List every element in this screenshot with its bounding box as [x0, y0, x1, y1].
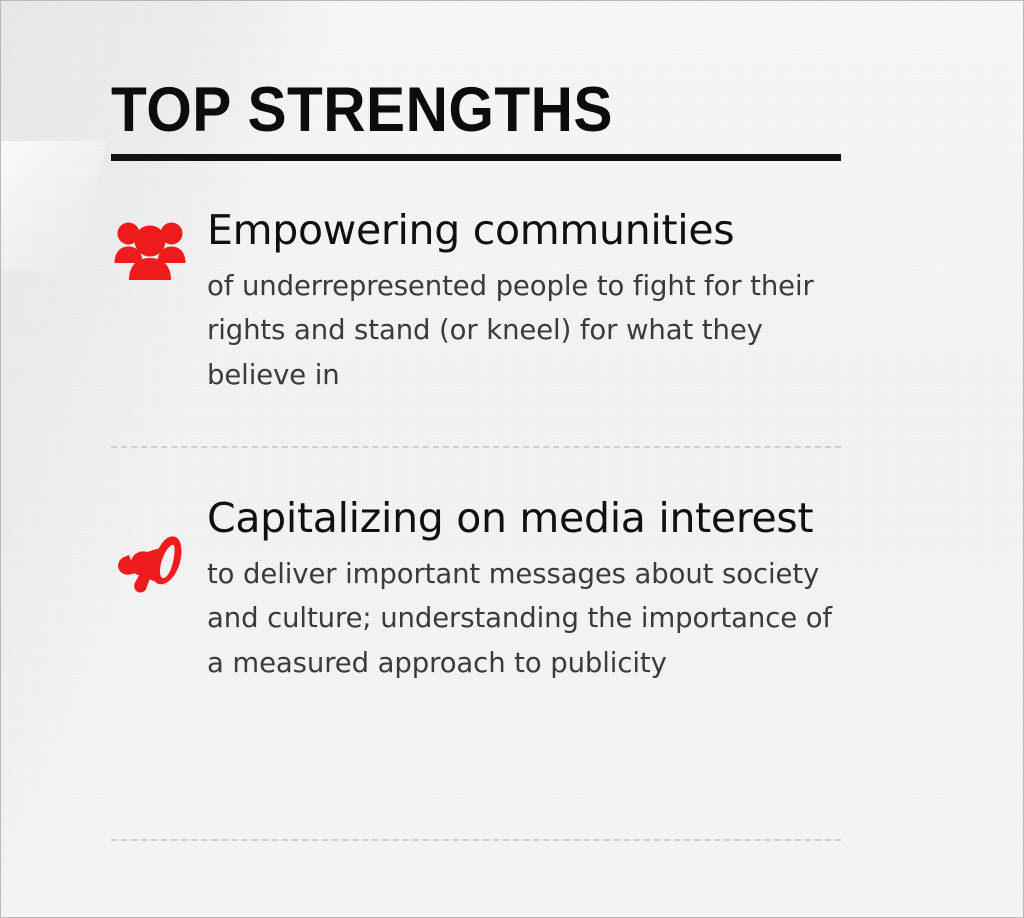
strength-item-1: Empowering communities of underrepresent… — [111, 207, 841, 397]
strength-body: to deliver important messages about soci… — [207, 552, 832, 686]
title-underline-rule — [111, 154, 841, 161]
section-divider-2 — [111, 839, 841, 841]
strength-item-2: Capitalizing on media interest to delive… — [111, 495, 841, 685]
strength-text-2: Capitalizing on media interest to delive… — [207, 495, 841, 685]
strengths-slide: TOP STRENGTHS — [0, 0, 1024, 918]
page-title: TOP STRENGTHS — [111, 79, 613, 142]
strength-heading: Empowering communities — [207, 207, 841, 254]
strength-heading: Capitalizing on media interest — [207, 495, 841, 542]
strength-text-1: Empowering communities of underrepresent… — [207, 207, 841, 397]
strength-body: of underrepresented people to fight for … — [207, 264, 832, 398]
megaphone-icon — [111, 535, 189, 593]
users-group-icon — [111, 219, 189, 281]
section-divider-1 — [111, 446, 841, 448]
